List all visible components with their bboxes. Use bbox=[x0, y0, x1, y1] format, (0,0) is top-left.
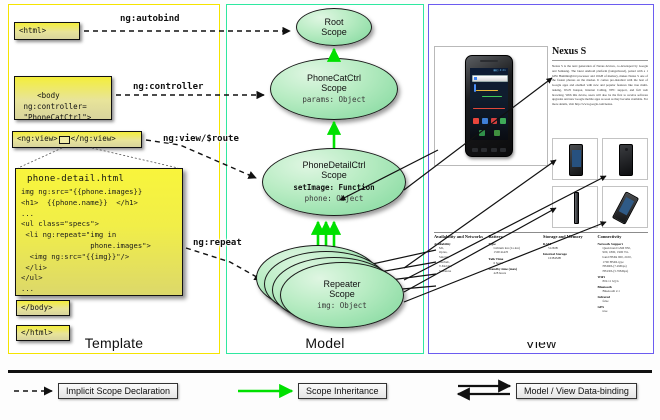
phone-hero-image-frame: ▮▮▯ 4:21 bbox=[434, 46, 548, 166]
scope-root-title1: Root bbox=[324, 17, 343, 27]
ngview-open-text: <ng:view> bbox=[17, 134, 58, 145]
legend-label-scope-inheritance: Scope Inheritance bbox=[298, 383, 387, 399]
spec-header-battery: Battery bbox=[489, 234, 540, 240]
scope-repeater: Repeater Scope img: Object bbox=[280, 262, 404, 328]
label-ng-autobind: ng:autobind bbox=[120, 14, 180, 24]
legend-label-implicit-scope-declaration: Implicit Scope Declaration bbox=[58, 383, 178, 399]
spec-value-wifi-0: 802.11 b/g/n bbox=[603, 279, 649, 284]
ngview-tag-box: <ng:view></ng:view> bbox=[12, 131, 142, 148]
spec-value-bluetooth-0: Bluetooth 2.1 bbox=[603, 289, 649, 294]
column-label-model: Model bbox=[227, 335, 423, 351]
scope-repeater-title2: Scope bbox=[329, 289, 355, 299]
scope-phonedetailctrl-prop-phone: phone: Object bbox=[305, 194, 364, 204]
spec-value-battery-standby-0: 428 hours bbox=[494, 271, 540, 276]
scope-repeater-prop-img: img: Object bbox=[317, 301, 367, 311]
html-close-tag-box: </html> bbox=[16, 325, 70, 341]
html-tag-box: <html> bbox=[14, 22, 80, 40]
spec-column-availability: Availability and Networks Availability M… bbox=[434, 234, 485, 314]
spec-column-storage: Storage and Memory RAM 512MB Internal St… bbox=[543, 234, 594, 314]
thumbnail-phone-back[interactable] bbox=[602, 138, 648, 180]
product-description: Nexus S is the next generation of Nexus … bbox=[552, 64, 648, 107]
scope-root-title2: Scope bbox=[321, 27, 347, 37]
thumbnail-phone-tilted[interactable] bbox=[602, 186, 648, 228]
thumbnail-phone-front[interactable] bbox=[552, 138, 598, 180]
html-tag-text: <html> bbox=[19, 26, 46, 37]
body-tag-box: <body ng:controller= "PhoneCatCtrl"> bbox=[14, 76, 112, 120]
phone-device-illustration: ▮▮▯ 4:21 bbox=[465, 55, 513, 157]
product-title: Nexus S bbox=[552, 46, 648, 57]
label-ng-repeat: ng:repeat bbox=[193, 238, 242, 248]
title-divider bbox=[552, 60, 648, 61]
diagram-canvas: Template Model View <html> <body ng:cont… bbox=[0, 0, 660, 420]
scope-phonecatctrl-title1: PhoneCatCtrl bbox=[307, 73, 361, 83]
scope-phonedetailctrl-title1: PhoneDetailCtrl bbox=[302, 160, 365, 170]
scope-root: Root Scope bbox=[296, 8, 372, 46]
scope-phonedetailctrl-title2: Scope bbox=[321, 170, 347, 180]
spec-value-network-5: HSUPA (5.76Mbps) bbox=[603, 269, 649, 274]
spec-header-connectivity: Connectivity bbox=[598, 234, 649, 240]
phone-detail-note: phone-detail.html img ng:src="{{phone.im… bbox=[15, 168, 183, 296]
spec-column-battery: Battery Type Lithium Ion (Li-Ion) 1500 m… bbox=[489, 234, 540, 314]
body-close-tag-box: </body> bbox=[16, 300, 70, 316]
spec-value-ram-0: 512MB bbox=[548, 246, 594, 251]
scope-phonedetailctrl: PhoneDetailCtrl Scope setImage: Function… bbox=[262, 148, 406, 216]
spec-value-battery-talktime-0: 6 hours bbox=[494, 261, 540, 266]
scope-repeater-title1: Repeater bbox=[323, 279, 360, 289]
body-close-text: </body> bbox=[21, 303, 53, 314]
label-ng-controller: ng:controller bbox=[133, 82, 203, 92]
spec-divider bbox=[434, 232, 648, 233]
view-rendered-page: ▮▮▯ 4:21 Nexus S Nexus S bbox=[434, 10, 648, 342]
spec-header-storage: Storage and Memory bbox=[543, 234, 594, 240]
spec-column-connectivity: Connectivity Network Support Quad-band G… bbox=[598, 234, 649, 314]
legend-label-model-view-data-binding: Model / View Data-binding bbox=[516, 383, 637, 399]
scope-phonecatctrl-title2: Scope bbox=[321, 83, 347, 93]
ngview-placeholder-rect bbox=[59, 136, 70, 144]
scope-phonecatctrl-prop-params: params: Object bbox=[302, 95, 365, 105]
ngview-close-text: </ng:view> bbox=[71, 134, 116, 145]
legend-double-arrow-icon bbox=[458, 386, 510, 394]
spec-value-availability-5: Vodafone bbox=[439, 269, 485, 274]
spec-header-availability: Availability and Networks bbox=[434, 234, 485, 240]
spec-value-gps-0: true bbox=[603, 309, 649, 314]
spec-value-infrared-0: false bbox=[603, 299, 649, 304]
thumbnail-grid bbox=[552, 138, 648, 228]
scope-phonecatctrl: PhoneCatCtrl Scope params: Object bbox=[270, 58, 398, 120]
note-title: phone-detail.html bbox=[27, 174, 177, 184]
label-ng-view-route: ng:view/$route bbox=[163, 134, 239, 144]
spec-value-internal-storage-0: 16384MB bbox=[548, 256, 594, 261]
scope-phonedetailctrl-prop-setimage: setImage: Function bbox=[293, 183, 374, 192]
note-code: img ng:src="{{phone.images}} <h1> {{phon… bbox=[21, 187, 177, 295]
body-tag-text: <body ng:controller= "PhoneCatCtrl"> bbox=[19, 91, 91, 122]
thumbnail-phone-side[interactable] bbox=[552, 186, 598, 228]
legend-divider bbox=[8, 370, 652, 373]
html-close-text: </html> bbox=[21, 328, 53, 339]
spec-table: Availability and Networks Availability M… bbox=[434, 234, 648, 314]
spec-value-battery-type-1: 1500 mAH bbox=[494, 250, 540, 255]
